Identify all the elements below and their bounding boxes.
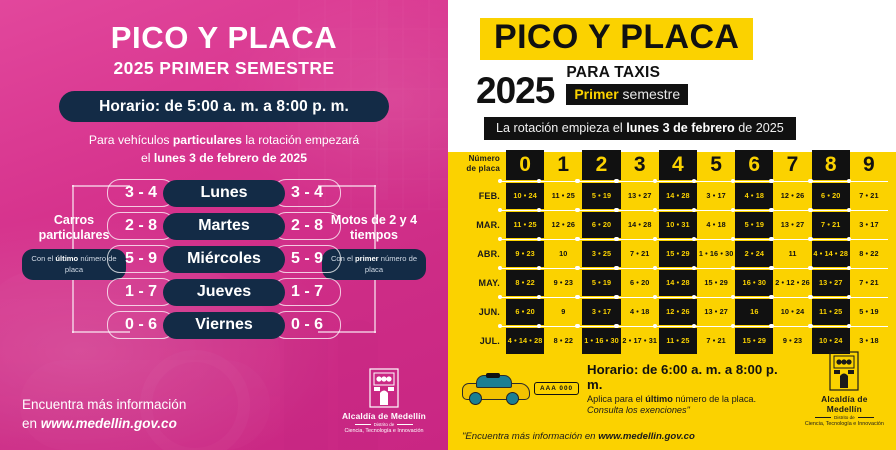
table-cell: 3 • 17 xyxy=(582,299,620,325)
row-separator xyxy=(500,325,888,328)
table-cell: 6 • 20 xyxy=(582,212,620,238)
shield-icon xyxy=(367,367,401,409)
table-cell: 13 • 27 xyxy=(697,299,735,325)
day-row: 0 - 6 Viernes 0 - 6 xyxy=(107,311,341,339)
right-year: 2025 xyxy=(476,73,554,108)
table-cell: 7 • 21 xyxy=(850,270,888,296)
day-name: Lunes xyxy=(163,180,285,207)
day-name: Jueves xyxy=(163,279,285,306)
table-cell: 5 • 19 xyxy=(582,183,620,209)
rotation-note-line2-bold: lunes 3 de febrero de 2025 xyxy=(154,151,307,165)
rot-post: de 2025 xyxy=(735,121,784,135)
table-cell: 8 • 22 xyxy=(850,241,888,267)
row-month-label: MAR. xyxy=(452,212,506,238)
left-panel-particulares: PICO Y PLACA 2025 PRIMER SEMESTRE Horari… xyxy=(0,0,448,450)
table-cell: 7 • 21 xyxy=(621,241,659,267)
left-footer-line2: en www.medellin.gov.co xyxy=(22,414,186,434)
taxi-icon xyxy=(458,370,534,408)
logo-name: Alcaldía de Medellín xyxy=(803,394,886,414)
table-cell: 13 • 27 xyxy=(812,270,850,296)
column-header: 9 xyxy=(850,150,888,180)
right-title: PICO Y PLACA xyxy=(480,18,753,60)
row-month-label: MAY. xyxy=(452,270,506,296)
row-month-label: JUN. xyxy=(452,299,506,325)
table-cell: 4 • 18 xyxy=(621,299,659,325)
right-consulta: Consulta los exenciones" xyxy=(587,405,795,415)
column-header: 2 xyxy=(582,150,620,180)
row-separator xyxy=(500,209,888,212)
row-separator xyxy=(500,180,888,183)
days-section: Carros particulares Con el último número… xyxy=(16,179,432,349)
table-row: JUN. 6 • 20 9 3 • 17 4 • 18 12 • 26 13 •… xyxy=(452,299,888,325)
table-cell: 4 • 18 xyxy=(697,212,735,238)
column-header: 8 xyxy=(812,150,850,180)
right-title-wrap: PICO Y PLACA xyxy=(448,0,896,60)
rotation-note-bold: particulares xyxy=(173,133,242,147)
poster-root: PICO Y PLACA 2025 PRIMER SEMESTRE Horari… xyxy=(0,0,896,450)
left-content: PICO Y PLACA 2025 PRIMER SEMESTRE Horari… xyxy=(0,22,448,349)
shield-icon xyxy=(827,350,861,392)
right-rotation-wrap: La rotación empieza el lunes 3 de febrer… xyxy=(448,108,896,140)
row-month-label: ABR. xyxy=(452,241,506,267)
plate-rotation-table: Número de placa 0 1 2 3 4 5 6 7 8 9 xyxy=(448,150,896,354)
table-row: ABR. 9 • 23 10 3 • 25 7 • 21 15 • 29 1 •… xyxy=(452,241,888,267)
right-semester-rest: semestre xyxy=(619,86,680,102)
left-footer-en: en xyxy=(22,416,41,431)
table-header-row: Número de placa 0 1 2 3 4 5 6 7 8 9 xyxy=(452,150,888,180)
corner-label-line2: de placa xyxy=(452,164,500,174)
table-cell: 13 • 27 xyxy=(773,212,811,238)
rotation-note-line1: Para vehículos particulares la rotación … xyxy=(16,132,432,150)
right-taxis-block: PARA TAXIS Primer semestre xyxy=(566,64,688,108)
aplica-pre: Aplica para el xyxy=(587,394,645,404)
column-header: 4 xyxy=(659,150,697,180)
logo-dept: Ciencia, Tecnología e Innovación xyxy=(803,421,886,427)
row-month-label: FEB. xyxy=(452,183,506,209)
table-cell: 14 • 28 xyxy=(659,270,697,296)
table-cell: 5 • 19 xyxy=(735,212,773,238)
right-schedule: Horario: de 6:00 a. m. a 8:00 p. m. xyxy=(587,362,795,392)
rotation-note-line2-pre: el xyxy=(141,151,154,165)
day-row: 5 - 9 Miércoles 5 - 9 xyxy=(107,245,341,273)
table-cell: 9 xyxy=(544,299,582,325)
left-subtitle: 2025 PRIMER SEMESTRE xyxy=(16,58,432,79)
right-semester-bold: Primer xyxy=(574,86,618,102)
column-header: 5 xyxy=(697,150,735,180)
table-cell: 16 xyxy=(735,299,773,325)
right-para-taxis: PARA TAXIS xyxy=(566,64,688,82)
right-aplica: Aplica para el último número de la placa… xyxy=(587,394,795,404)
row-separator xyxy=(500,238,888,241)
table-cell: 8 • 22 xyxy=(506,270,544,296)
table-cell: 1 • 16 • 30 xyxy=(697,241,735,267)
table-cell: 9 • 23 xyxy=(544,270,582,296)
day-name: Miércoles xyxy=(163,246,285,273)
column-header: 0 xyxy=(506,150,544,180)
schedule-badge: Horario: de 5:00 a. m. a 8:00 p. m. xyxy=(59,91,389,122)
left-footer-line1: Encuentra más información xyxy=(22,395,186,415)
table-cell: 12 • 26 xyxy=(659,299,697,325)
row-cells: 6 • 20 9 3 • 17 4 • 18 12 • 26 13 • 27 1… xyxy=(506,299,888,325)
table-cell: 14 • 28 xyxy=(621,212,659,238)
rot-pre: La rotación empieza el xyxy=(496,121,626,135)
day-row: 1 - 7 Jueves 1 - 7 xyxy=(107,278,341,306)
day-row: 2 - 8 Martes 2 - 8 xyxy=(107,212,341,240)
table-cell: 10 • 31 xyxy=(659,212,697,238)
day-name: Martes xyxy=(163,213,285,240)
row-cells: 9 • 23 10 3 • 25 7 • 21 15 • 29 1 • 16 •… xyxy=(506,241,888,267)
table-corner-label: Número de placa xyxy=(452,150,506,180)
table-cell: 14 • 28 xyxy=(659,183,697,209)
table-cell: 5 • 19 xyxy=(850,299,888,325)
table-row: FEB. 10 • 24 11 • 25 5 • 19 13 • 27 14 •… xyxy=(452,183,888,209)
table-cell: 15 • 29 xyxy=(659,241,697,267)
rot-bold: lunes 3 de febrero xyxy=(626,121,734,135)
right-footer-text: Horario: de 6:00 a. m. a 8:00 p. m. Apli… xyxy=(587,362,795,415)
table-header-cells: 0 1 2 3 4 5 6 7 8 9 xyxy=(506,150,888,180)
table-cell: 10 xyxy=(544,241,582,267)
left-title: PICO Y PLACA xyxy=(16,22,432,53)
aplica-bold: último xyxy=(645,394,673,404)
table-cell: 15 • 29 xyxy=(697,270,735,296)
row-cells: 8 • 22 9 • 23 5 • 19 6 • 20 14 • 28 15 •… xyxy=(506,270,888,296)
rotation-note-pre: Para vehículos xyxy=(89,133,173,147)
table-cell: 12 • 26 xyxy=(773,183,811,209)
table-cell: 13 • 27 xyxy=(621,183,659,209)
table-row: MAY. 8 • 22 9 • 23 5 • 19 6 • 20 14 • 28… xyxy=(452,270,888,296)
column-header: 3 xyxy=(621,150,659,180)
logo-dept-prefix: Distrito de xyxy=(803,415,886,420)
row-cells: 11 • 25 12 • 26 6 • 20 14 • 28 10 • 31 4… xyxy=(506,212,888,238)
rotation-note: Para vehículos particulares la rotación … xyxy=(16,132,432,167)
alcaldia-logo-left: Alcaldía de Medellín Distrito de Ciencia… xyxy=(342,367,426,434)
right-rotation-banner: La rotación empieza el lunes 3 de febrer… xyxy=(484,117,796,140)
right-subtitle-row: 2025 PARA TAXIS Primer semestre xyxy=(448,64,896,108)
table-cell: 2 • 12 • 26 xyxy=(773,270,811,296)
aplica-post: número de la placa. xyxy=(673,394,756,404)
bottom-pre: "Encuentra más información en xyxy=(462,431,598,442)
logo-dept: Ciencia, Tecnología e Innovación xyxy=(342,428,426,434)
table-cell: 10 • 24 xyxy=(506,183,544,209)
right-panel-taxis: PICO Y PLACA 2025 PARA TAXIS Primer seme… xyxy=(448,0,896,450)
table-cell: 5 • 19 xyxy=(582,270,620,296)
left-footer-url[interactable]: www.medellin.gov.co xyxy=(41,416,177,431)
right-footer-bottom: "Encuentra más información en www.medell… xyxy=(458,431,886,442)
table-cell: 3 • 17 xyxy=(697,183,735,209)
table-cell: 10 • 24 xyxy=(773,299,811,325)
day-rows: 3 - 4 Lunes 3 - 4 2 - 8 Martes 2 - 8 5 -… xyxy=(16,179,432,339)
table-cell: 6 • 20 xyxy=(812,183,850,209)
column-header: 7 xyxy=(773,150,811,180)
day-name: Viernes xyxy=(163,312,285,339)
right-semester: Primer semestre xyxy=(566,84,688,105)
table-cell: 9 • 23 xyxy=(506,241,544,267)
table-cell: 11 • 25 xyxy=(544,183,582,209)
column-header: 1 xyxy=(544,150,582,180)
table-cell: 11 • 25 xyxy=(506,212,544,238)
table-cell: 4 • 18 xyxy=(735,183,773,209)
corner-label-line1: Número xyxy=(452,154,500,164)
table-cell: 11 • 25 xyxy=(812,299,850,325)
schedule-text: Horario: de 5:00 a. m. a 8:00 p. m. xyxy=(99,98,349,116)
row-cells: 10 • 24 11 • 25 5 • 19 13 • 27 14 • 28 3… xyxy=(506,183,888,209)
table-cell: 16 • 30 xyxy=(735,270,773,296)
table-cell: 3 • 17 xyxy=(850,212,888,238)
table-cell: 7 • 21 xyxy=(850,183,888,209)
logo-name: Alcaldía de Medellín xyxy=(342,411,426,421)
table-cell: 7 • 21 xyxy=(812,212,850,238)
row-separator xyxy=(500,296,888,299)
right-footer: AAA 000 Horario: de 6:00 a. m. a 8:00 p.… xyxy=(448,350,896,442)
left-footer: Encuentra más información en www.medelli… xyxy=(0,367,448,434)
table-cell: 6 • 20 xyxy=(621,270,659,296)
table-cell: 3 • 25 xyxy=(582,241,620,267)
table-row: MAR. 11 • 25 12 • 26 6 • 20 14 • 28 10 •… xyxy=(452,212,888,238)
logo-dept-prefix: Distrito de xyxy=(342,422,426,427)
right-content: PICO Y PLACA 2025 PARA TAXIS Primer seme… xyxy=(448,0,896,354)
license-plate-icon: AAA 000 xyxy=(534,382,579,395)
column-header: 6 xyxy=(735,150,773,180)
table-cell: 2 • 24 xyxy=(735,241,773,267)
table-cell: 11 xyxy=(773,241,811,267)
table-cell: 12 • 26 xyxy=(544,212,582,238)
right-footer-url[interactable]: www.medellin.gov.co xyxy=(598,431,695,442)
alcaldia-logo-right: Alcaldía de Medellín Distrito de Ciencia… xyxy=(803,350,886,427)
table-cell: 6 • 20 xyxy=(506,299,544,325)
table-cell: 4 • 14 • 28 xyxy=(812,241,850,267)
rotation-note-line2: el lunes 3 de febrero de 2025 xyxy=(16,150,432,168)
day-row: 3 - 4 Lunes 3 - 4 xyxy=(107,179,341,207)
row-separator xyxy=(500,267,888,270)
rotation-note-post: la rotación empezará xyxy=(242,133,359,147)
left-footer-text: Encuentra más información en www.medelli… xyxy=(22,395,186,434)
right-footer-main: AAA 000 Horario: de 6:00 a. m. a 8:00 p.… xyxy=(458,350,886,427)
